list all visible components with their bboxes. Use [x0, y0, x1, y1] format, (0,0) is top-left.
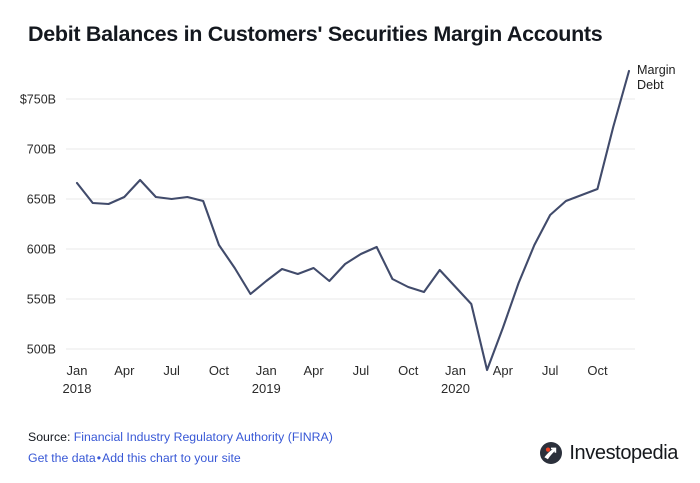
brand-name: Investopedia — [569, 442, 678, 465]
y-axis-tick-label: 650B — [27, 193, 56, 207]
get-the-data-link[interactable]: Get the data — [28, 451, 96, 465]
x-axis-tick-label: Jul — [353, 363, 370, 378]
x-axis-tick-label: Oct — [587, 363, 608, 378]
series-label-line1: Margin — [637, 63, 697, 78]
investopedia-logo-icon — [539, 441, 563, 465]
y-axis-tick-label: 500B — [27, 343, 56, 357]
x-axis-tick-label: Jan — [256, 363, 277, 378]
x-axis-tick-label: Apr — [493, 363, 514, 378]
x-axis-tick-label: Apr — [114, 363, 135, 378]
y-axis-tick-label: 600B — [27, 243, 56, 257]
x-axis-tick-label: Jul — [163, 363, 180, 378]
x-axis-tick-label: Jan — [445, 363, 466, 378]
x-axis-tick-label: Oct — [398, 363, 419, 378]
x-axis-tick-label: Oct — [209, 363, 230, 378]
x-axis-tick-label: Jan — [67, 363, 88, 378]
x-axis-tick-sublabel: 2018 — [63, 381, 92, 396]
gridlines — [66, 99, 635, 349]
brand-logo[interactable]: Investopedia — [539, 441, 678, 465]
series-inline-label: Margin Debt — [637, 63, 697, 93]
source-line: Source: Financial Industry Regulatory Au… — [28, 428, 333, 446]
series-margin-debt — [77, 71, 629, 370]
chart-card: Debit Balances in Customers' Securities … — [0, 0, 700, 483]
y-axis-tick-label: 700B — [27, 143, 56, 157]
chart-footer: Source: Financial Industry Regulatory Au… — [28, 428, 333, 467]
x-axis-tick-sublabel: 2019 — [252, 381, 281, 396]
x-axis-tick-label: Apr — [303, 363, 324, 378]
x-axis-tick-sublabel: 2020 — [441, 381, 470, 396]
footer-links: Get the data•Add this chart to your site — [28, 449, 333, 467]
y-axis-tick-label: $750B — [20, 93, 56, 107]
plot-area: 500B550B600B650B700B$750B Jan2018AprJulO… — [0, 0, 700, 420]
embed-chart-link[interactable]: Add this chart to your site — [102, 451, 241, 465]
source-prefix: Source: — [28, 430, 74, 444]
series-label-line2: Debt — [637, 78, 697, 93]
source-link[interactable]: Financial Industry Regulatory Authority … — [74, 430, 333, 444]
y-axis-tick-labels: 500B550B600B650B700B$750B — [20, 93, 56, 357]
x-axis-tick-labels: Jan2018AprJulOctJan2019AprJulOctJan2020A… — [63, 363, 608, 396]
y-axis-tick-label: 550B — [27, 293, 56, 307]
line-chart-svg: 500B550B600B650B700B$750B Jan2018AprJulO… — [0, 0, 700, 420]
x-axis-tick-label: Jul — [542, 363, 559, 378]
series-line-margin-debt — [77, 71, 629, 370]
